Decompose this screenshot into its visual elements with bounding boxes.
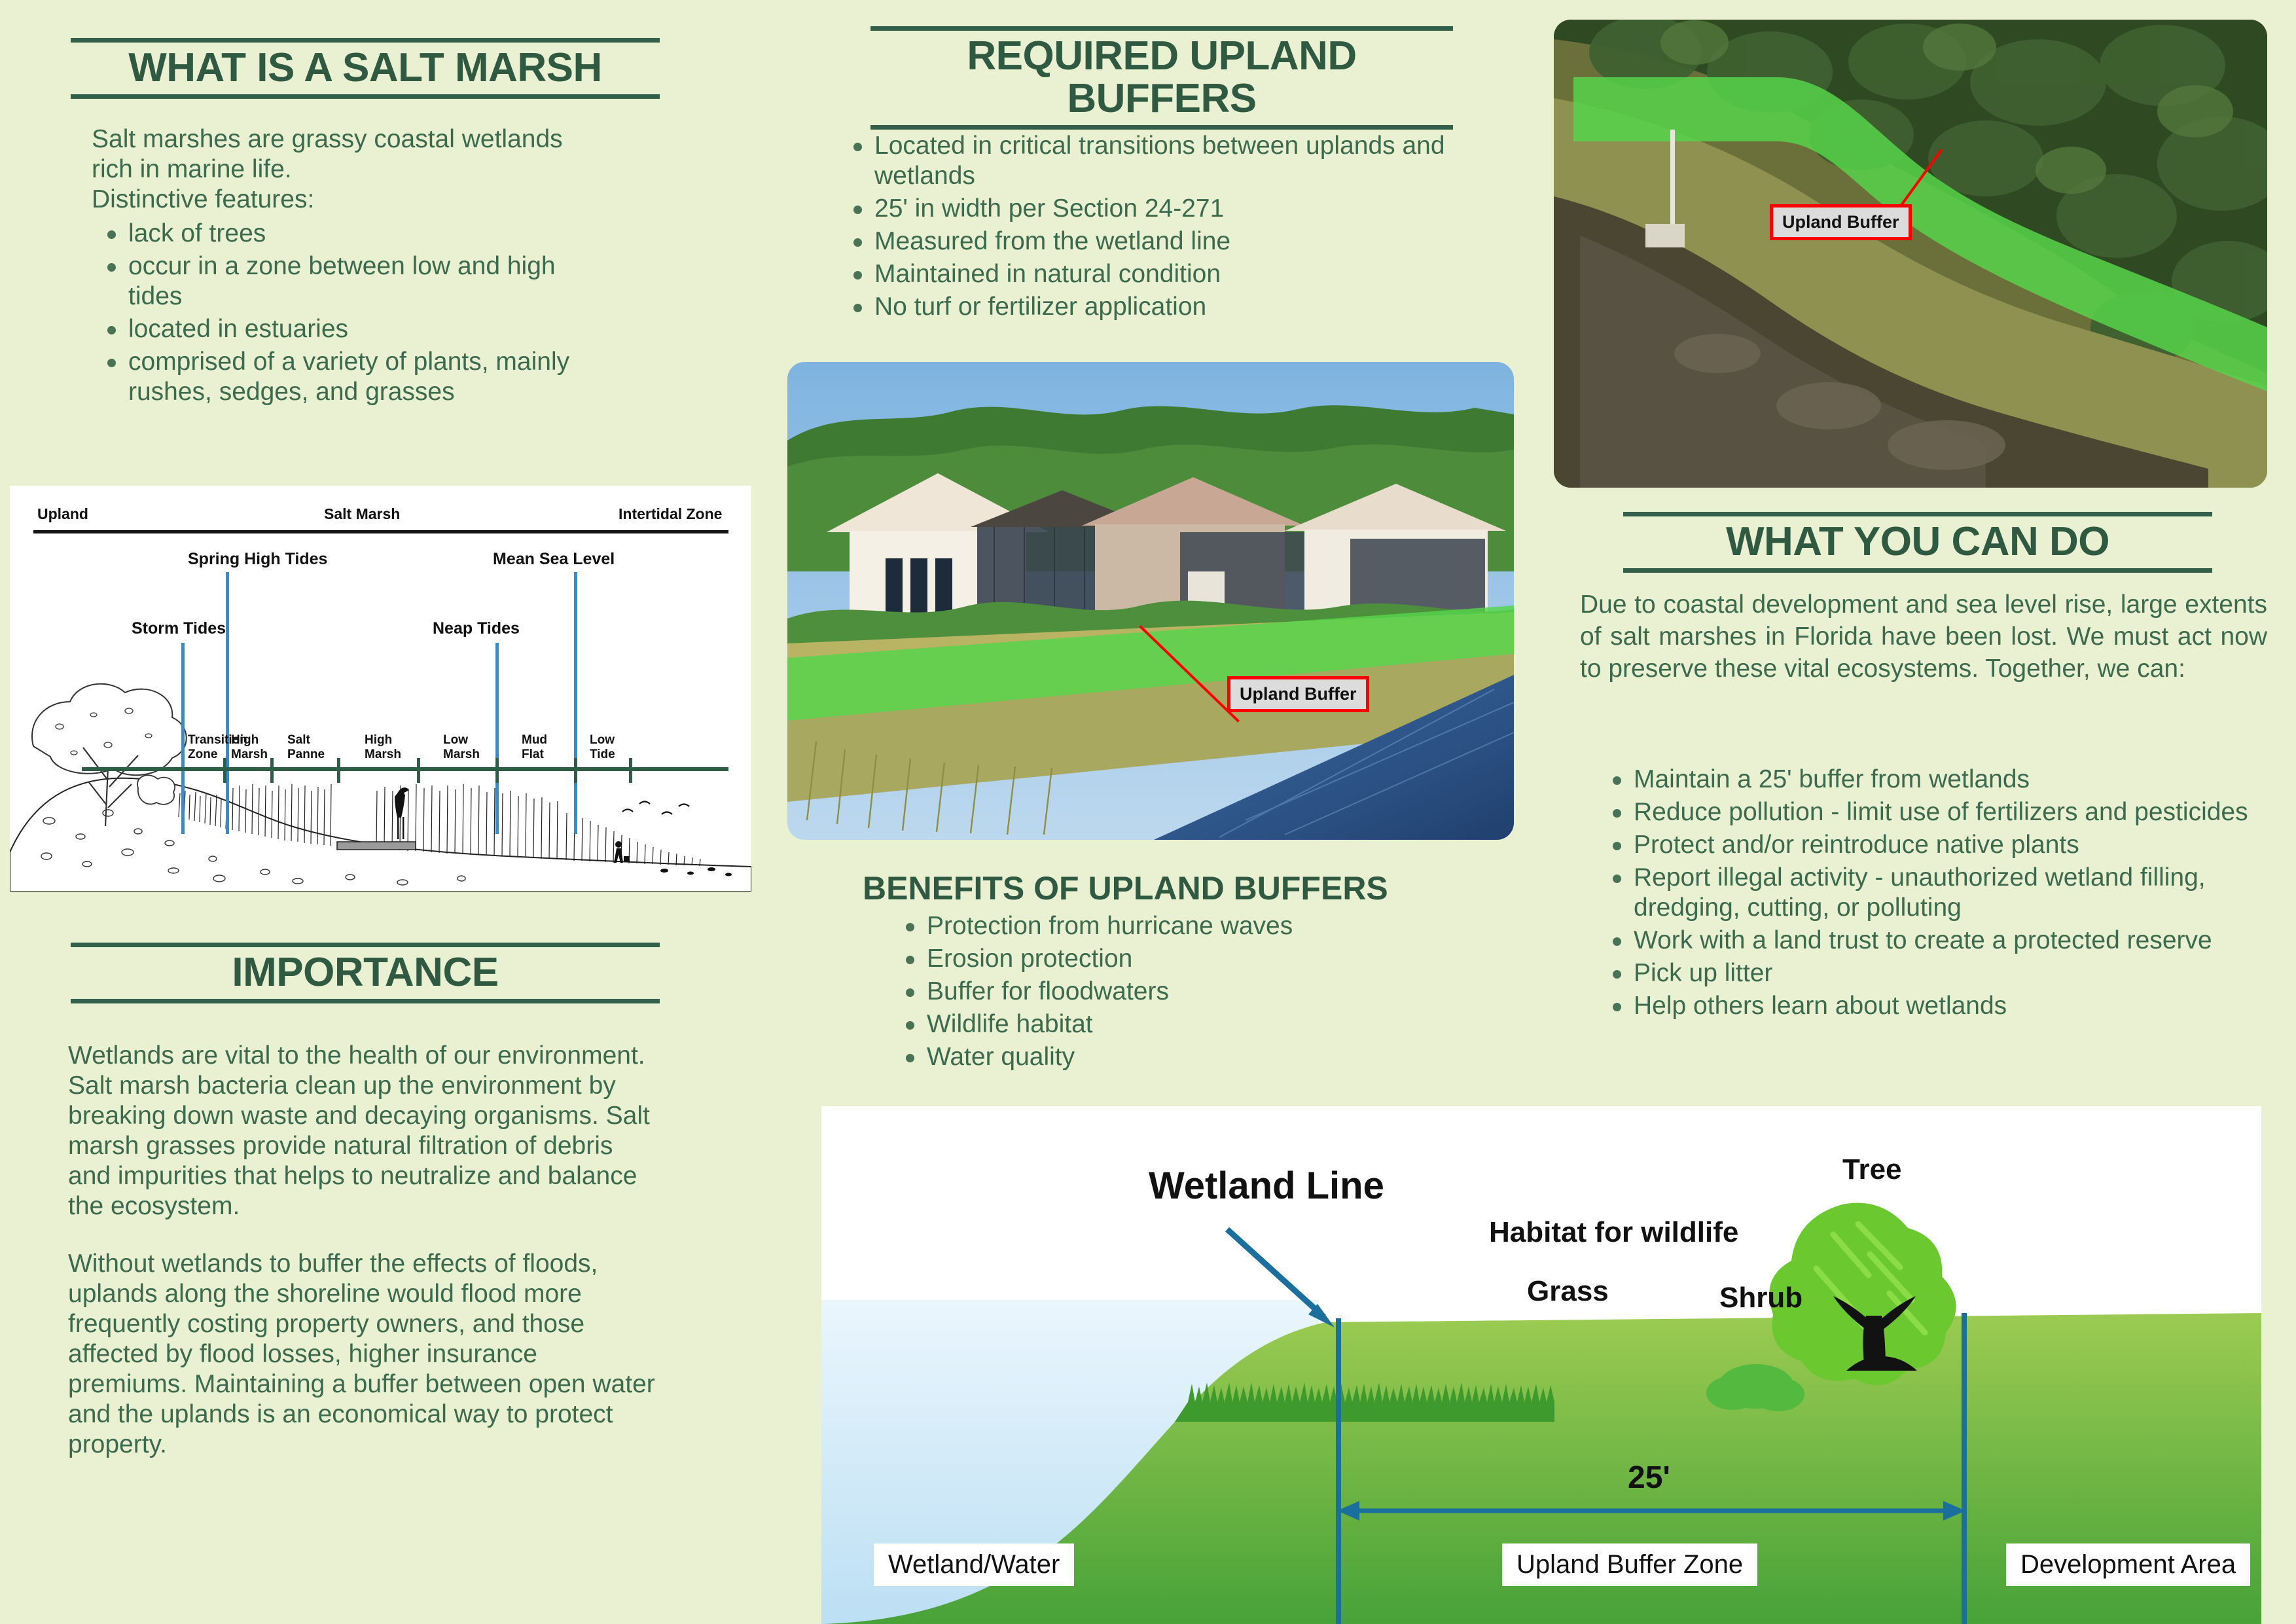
list-item: Erosion protection: [897, 944, 1453, 974]
zone-tick: [270, 758, 274, 783]
required-buffers-list: Located in critical transitions between …: [844, 131, 1453, 325]
list-item: Buffer for floodwaters: [897, 977, 1453, 1007]
zone-tick: [337, 758, 340, 783]
brochure-page: WHAT IS A SALT MARSH Salt marshes are gr…: [0, 0, 2296, 1624]
section-title-what-you-can-do: WHAT YOU CAN DO: [1623, 519, 2212, 567]
list-item: Reduce pollution - limit use of fertiliz…: [1604, 797, 2278, 827]
section-title-importance: IMPORTANCE: [71, 950, 660, 998]
tide-line-mean-sea-level: [574, 572, 577, 834]
marsh-terrain-illustration: [10, 486, 751, 892]
heading-rule-bottom: [1623, 568, 2212, 573]
salt-marsh-intro: Salt marshes are grassy coastal wetlands…: [92, 124, 635, 215]
heading-rule-bottom: [870, 125, 1453, 130]
list-item: No turf or fertilizer application: [844, 292, 1453, 322]
heading-rule-bottom: [71, 94, 660, 99]
zone-label-high-marsh-2: High Marsh: [365, 733, 401, 762]
dimension-label-25-feet: 25': [1628, 1460, 1670, 1496]
what-you-can-do-intro: Due to coastal development and sea level…: [1580, 589, 2267, 685]
zone-tick: [574, 758, 577, 783]
list-item: Maintain a 25' buffer from wetlands: [1604, 765, 2278, 795]
section-title-required-upland-buffers: REQUIRED UPLAND BUFFERS: [870, 33, 1453, 124]
list-item: Maintained in natural condition: [844, 259, 1453, 289]
actions-list: Maintain a 25' buffer from wetlands Redu…: [1604, 765, 2278, 1024]
importance-paragraph-1: Wetlands are vital to the health of our …: [68, 1041, 657, 1221]
list-item: Located in critical transitions between …: [844, 131, 1453, 191]
zone-tick: [495, 758, 499, 783]
photo-aerial-upland-buffer: Upland Buffer: [1554, 20, 2267, 488]
heading-rule-top: [1623, 512, 2212, 516]
zone-label-low-tide: Low Tide: [590, 733, 615, 762]
page-title-salt-marsh: WHAT IS A SALT MARSH: [71, 45, 660, 93]
diagram-label-spring-high-tides: Spring High Tides: [188, 550, 327, 569]
zone-tick: [417, 758, 420, 783]
salt-marsh-cross-section-diagram: Upland Salt Marsh Intertidal Zone Spring…: [10, 486, 751, 892]
callout-label-upland-buffer: Upland Buffer: [1227, 676, 1369, 712]
diagram-label-salt-marsh: Salt Marsh: [324, 505, 400, 523]
section-title-benefits-of-upland-buffers: BENEFITS OF UPLAND BUFFERS: [863, 869, 1388, 907]
list-item: Wildlife habitat: [897, 1009, 1453, 1039]
zone-label-mud-flat: Mud Flat: [522, 733, 547, 762]
zone-box-upland-buffer-zone: Upland Buffer Zone: [1502, 1543, 1757, 1586]
section-heading-required-upland-buffers: REQUIRED UPLAND BUFFERS: [870, 26, 1453, 130]
diagram-label-wetland-line: Wetland Line: [1149, 1164, 1384, 1208]
heading-rule-top: [870, 26, 1453, 31]
list-item: Protection from hurricane waves: [897, 911, 1453, 941]
salt-marsh-feature-list: lack of trees occur in a zone between lo…: [98, 219, 615, 410]
aerial-buffer-illustration: [1554, 20, 2267, 488]
section-heading-what-you-can-do: WHAT YOU CAN DO: [1623, 512, 2212, 573]
list-item: lack of trees: [98, 219, 615, 249]
zone-label-high-marsh-1: High Marsh: [231, 733, 268, 762]
zone-tick: [223, 758, 226, 783]
zone-box-wetland-water: Wetland/Water: [874, 1543, 1074, 1586]
section-heading-what-is-a-salt-marsh: WHAT IS A SALT MARSH: [71, 38, 660, 99]
importance-body: Wetlands are vital to the health of our …: [68, 1041, 657, 1460]
list-item: Measured from the wetland line: [844, 226, 1453, 257]
diagram-label-intertidal-zone: Intertidal Zone: [619, 505, 722, 523]
list-item: occur in a zone between low and high tid…: [98, 251, 615, 312]
zone-label-salt-panne: Salt Panne: [287, 733, 325, 762]
diagram-top-divider: [33, 530, 728, 533]
diagram-label-grass: Grass: [1527, 1275, 1609, 1308]
heading-rule-bottom: [71, 999, 660, 1003]
list-item: Pick up litter: [1604, 958, 2278, 988]
list-item: Water quality: [897, 1042, 1453, 1072]
residential-buffer-illustration: [787, 362, 1514, 840]
zone-tick: [629, 758, 632, 783]
diagram-label-habitat-for-wildlife: Habitat for wildlife: [1489, 1216, 1738, 1249]
list-item: 25' in width per Section 24-271: [844, 194, 1453, 224]
intro-line-1: Salt marshes are grassy coastal wetlands: [92, 124, 635, 154]
section-heading-importance: IMPORTANCE: [71, 943, 660, 1003]
tide-line-storm: [181, 643, 185, 834]
list-item: comprised of a variety of plants, mainly…: [98, 347, 615, 407]
intro-line-3: Distinctive features:: [92, 185, 635, 215]
list-item: Work with a land trust to create a prote…: [1604, 926, 2278, 956]
diagram-label-upland: Upland: [37, 505, 88, 523]
tide-line-spring-high: [226, 572, 229, 834]
intro-line-2: rich in marine life.: [92, 154, 635, 185]
list-item: Protect and/or reintroduce native plants: [1604, 830, 2278, 860]
upland-buffer-cross-section-diagram: Wetland Line Habitat for wildlife Grass …: [821, 1106, 2261, 1624]
diagram-label-mean-sea-level: Mean Sea Level: [493, 550, 615, 569]
list-item: located in estuaries: [98, 314, 615, 344]
zone-box-development-area: Development Area: [2006, 1543, 2250, 1586]
heading-rule-top: [71, 943, 660, 947]
tide-line-neap: [495, 643, 499, 834]
zone-label-low-marsh: Low Marsh: [443, 733, 480, 762]
benefits-list: Protection from hurricane waves Erosion …: [897, 911, 1453, 1075]
diagram-label-storm-tides: Storm Tides: [132, 619, 226, 638]
photo-residential-upland-buffer: Upland Buffer: [787, 362, 1514, 840]
list-item: Help others learn about wetlands: [1604, 991, 2278, 1021]
callout-label-upland-buffer: Upland Buffer: [1770, 204, 1912, 240]
diagram-label-tree: Tree: [1842, 1153, 1902, 1186]
importance-paragraph-2: Without wetlands to buffer the effects o…: [68, 1249, 657, 1460]
diagram-label-shrub: Shrub: [1719, 1282, 1803, 1314]
heading-rule-top: [71, 38, 660, 43]
diagram-label-neap-tides: Neap Tides: [433, 619, 520, 638]
intro-paragraph: Due to coastal development and sea level…: [1580, 589, 2267, 685]
list-item: Report illegal activity - unauthorized w…: [1604, 863, 2278, 923]
